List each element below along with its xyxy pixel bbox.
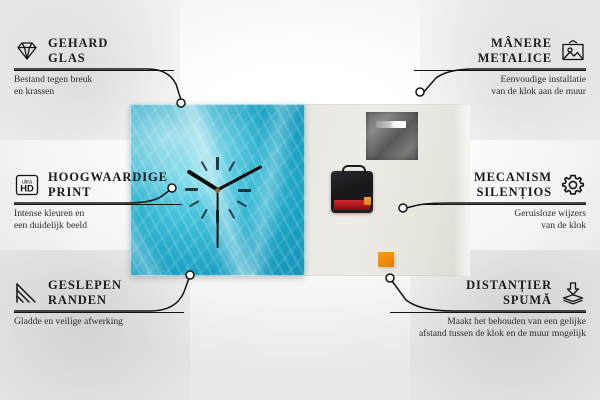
clock-mechanism-box bbox=[331, 171, 373, 213]
callout-glass[interactable]: GEHARD GLAS Bestand tegen breuk en krass… bbox=[14, 36, 174, 99]
diamond-icon bbox=[14, 39, 40, 63]
callout-edges-rule bbox=[14, 312, 184, 313]
callout-edges-title: GESLEPEN RANDEN bbox=[48, 278, 122, 308]
svg-text:HD: HD bbox=[20, 182, 34, 193]
callout-handles-rule bbox=[414, 70, 586, 71]
beveled-edge-icon bbox=[14, 281, 40, 305]
callout-mechanism[interactable]: MECANISM SILENȚIOS Geruisloze wijzers va… bbox=[418, 170, 586, 233]
hands-center-cap bbox=[215, 188, 220, 193]
callout-edges-head: GESLEPEN RANDEN bbox=[14, 278, 184, 308]
foam-spacer-pad bbox=[378, 252, 394, 267]
battery bbox=[334, 200, 370, 210]
mechanism-hanging-loop bbox=[342, 165, 366, 177]
callout-print-description: Intense kleuren en een duidelijk beeld bbox=[14, 208, 182, 233]
callout-mechanism-title: MECANISM SILENȚIOS bbox=[474, 170, 552, 200]
product-infographic: GEHARD GLAS Bestand tegen breuk en krass… bbox=[0, 0, 600, 400]
callout-handles-title: MÂNERE METALICE bbox=[478, 36, 552, 66]
callout-glass-head: GEHARD GLAS bbox=[14, 36, 174, 66]
callout-spacer-head: DISTANȚIER SPUMĂ bbox=[390, 278, 586, 308]
callout-print-rule bbox=[14, 204, 182, 205]
callout-spacer-rule bbox=[390, 312, 586, 313]
callout-handles-head: MÂNERE METALICE bbox=[414, 36, 586, 66]
callout-edges[interactable]: GESLEPEN RANDEN Gladde en veilige afwerk… bbox=[14, 278, 184, 328]
callout-print-title: HOOGWAARDIGE PRINT bbox=[48, 170, 168, 200]
callout-glass-description: Bestand tegen breuk en krassen bbox=[14, 74, 174, 99]
callout-mechanism-description: Geruisloze wijzers van de klok bbox=[418, 208, 586, 233]
second-hand bbox=[217, 190, 219, 248]
callout-print-head: ultra HD HOOGWAARDIGE PRINT bbox=[14, 170, 182, 200]
callout-handles[interactable]: MÂNERE METALICE Eenvoudige installatie v… bbox=[414, 36, 586, 99]
picture-hanger-icon bbox=[560, 39, 586, 63]
callout-glass-rule bbox=[14, 70, 174, 71]
callout-mechanism-head: MECANISM SILENȚIOS bbox=[418, 170, 586, 200]
callout-glass-title: GEHARD GLAS bbox=[48, 36, 108, 66]
callout-handles-description: Eenvoudige installatie van de klok aan d… bbox=[414, 74, 586, 99]
callout-edges-description: Gladde en veilige afwerking bbox=[14, 316, 184, 329]
callout-spacer[interactable]: DISTANȚIER SPUMĂ Maakt het behouden van … bbox=[390, 278, 586, 341]
callout-spacer-title: DISTANȚIER SPUMĂ bbox=[466, 278, 552, 308]
callout-print[interactable]: ultra HD HOOGWAARDIGE PRINT Intense kleu… bbox=[14, 170, 182, 233]
callout-spacer-description: Maakt het behouden van een gelijke afsta… bbox=[390, 316, 586, 341]
metal-hanger-plate bbox=[366, 112, 418, 160]
spacer-pad-icon bbox=[560, 281, 586, 305]
ultra-hd-icon: ultra HD bbox=[14, 173, 40, 197]
callout-mechanism-rule bbox=[418, 204, 586, 205]
hanger-slot bbox=[376, 121, 406, 128]
gear-icon bbox=[560, 173, 586, 197]
